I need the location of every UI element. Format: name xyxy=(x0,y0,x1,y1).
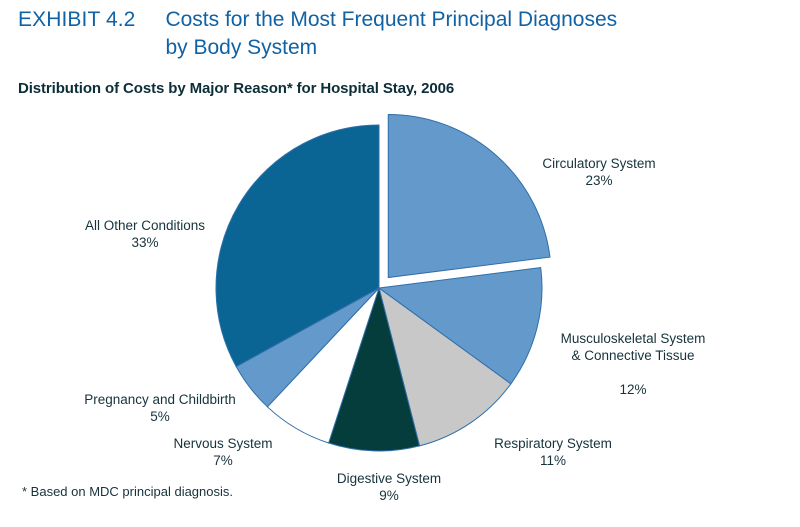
page-title-line-1: Costs for the Most Frequent Principal Di… xyxy=(165,6,617,34)
slice-label-all-other-conditions-name: All Other Conditions xyxy=(85,218,205,233)
slice-label-musculoskeletal-name-line-2: & Connective Tissue xyxy=(545,347,721,364)
pie-slice-digestive-system[interactable] xyxy=(329,288,420,451)
slice-label-nervous-pct: 7% xyxy=(148,452,298,469)
slice-label-circulatory-name: Circulatory System xyxy=(542,156,655,171)
slice-label-pregnancy-pct: 5% xyxy=(65,408,255,425)
slice-label-musculoskeletal-pct: 12% xyxy=(545,381,721,398)
page-title: Costs for the Most Frequent Principal Di… xyxy=(165,6,617,62)
slice-label-respiratory: Respiratory System 11% xyxy=(470,418,636,486)
footnote: * Based on MDC principal diagnosis. xyxy=(22,484,233,499)
pie-slice-pregnancy-and-childbirth[interactable] xyxy=(236,288,379,407)
chart-subtitle: Distribution of Costs by Major Reason* f… xyxy=(18,80,454,97)
slice-label-all-other-conditions-pct: 33% xyxy=(65,234,225,251)
slice-label-digestive-name: Digestive System xyxy=(337,471,441,486)
page-title-line-2: by Body System xyxy=(165,34,617,62)
slice-label-digestive-pct: 9% xyxy=(306,487,472,504)
pie-slice-group xyxy=(216,115,550,452)
slice-label-circulatory: Circulatory System 23% xyxy=(524,138,674,206)
exhibit-header: EXHIBIT 4.2 Costs for the Most Frequent … xyxy=(18,6,788,62)
slice-label-musculoskeletal: Musculoskeletal System & Connective Tiss… xyxy=(545,313,721,415)
slice-label-circulatory-pct: 23% xyxy=(524,172,674,189)
slice-label-pregnancy-name: Pregnancy and Childbirth xyxy=(84,392,236,407)
slice-label-pregnancy: Pregnancy and Childbirth 5% xyxy=(65,374,255,442)
pie-slice-all-other-conditions[interactable] xyxy=(216,125,379,367)
pie-slice-musculoskeletal-system-connective-tissue[interactable] xyxy=(379,268,542,384)
slice-label-respiratory-name: Respiratory System xyxy=(494,436,612,451)
slice-label-all-other-conditions: All Other Conditions 33% xyxy=(65,200,225,268)
slice-label-digestive: Digestive System 9% xyxy=(306,453,472,521)
exhibit-number: EXHIBIT 4.2 xyxy=(18,6,135,34)
slice-label-respiratory-pct: 11% xyxy=(470,452,636,469)
slice-label-musculoskeletal-name-line-1: Musculoskeletal System xyxy=(561,331,706,346)
